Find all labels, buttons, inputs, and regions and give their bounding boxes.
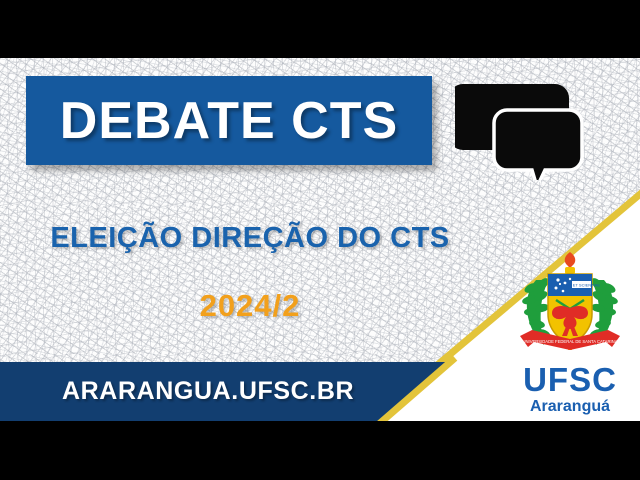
page-title: DEBATE CTS: [60, 95, 398, 147]
letterbox-bottom: [0, 421, 640, 480]
speech-bubbles-icon: [455, 70, 585, 180]
website-bar: ARARANGUA.UFSC.BR: [0, 362, 452, 421]
ufsc-logo: DEO ET SCIENTIAE UNIVERSIDADE FEDERAL DE…: [500, 250, 640, 415]
title-banner: DEBATE CTS: [26, 76, 432, 165]
ufsc-crest-icon: DEO ET SCIENTIAE UNIVERSIDADE FEDERAL DE…: [506, 250, 634, 362]
crest-motto: DEO ET SCIENTIAE: [563, 283, 600, 288]
crest-ribbon-text: UNIVERSIDADE FEDERAL DE SANTA CATARINA: [522, 339, 617, 344]
video-frame: DEBATE CTS ELEIÇÃO DIREÇÃO DO CTS 2024/2…: [0, 0, 640, 480]
ufsc-campus-label: Araranguá: [500, 399, 640, 415]
website-url: ARARANGUA.UFSC.BR: [62, 377, 354, 406]
subtitle: ELEIÇÃO DIREÇÃO DO CTS: [0, 222, 500, 255]
year-label: 2024/2: [0, 288, 500, 324]
ufsc-wordmark: UFSC: [500, 363, 640, 396]
letterbox-top: [0, 0, 640, 58]
slide-canvas: DEBATE CTS ELEIÇÃO DIREÇÃO DO CTS 2024/2…: [0, 58, 640, 421]
